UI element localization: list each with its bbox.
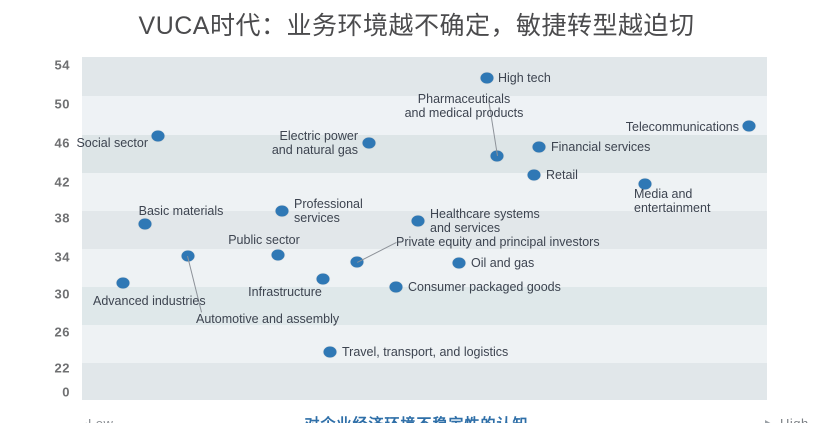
- data-point-label: Infrastructure: [248, 285, 322, 299]
- data-point-label: Oil and gas: [471, 256, 534, 270]
- y-tick: 34: [55, 250, 70, 265]
- data-point[interactable]: [324, 347, 337, 358]
- bottom-spacer: [0, 423, 833, 441]
- y-tick: 22: [55, 361, 70, 376]
- y-tick: 30: [55, 287, 70, 302]
- slide-canvas: VUCA时代：业务环境越不确定，敏捷转型越迫切 54 50 46 42 38 3…: [0, 0, 833, 441]
- data-point-label: Public sector: [228, 233, 300, 247]
- data-point[interactable]: [272, 250, 285, 261]
- data-point-label: Consumer packaged goods: [408, 280, 561, 294]
- data-point-label: High tech: [498, 71, 551, 85]
- data-point[interactable]: [528, 170, 541, 181]
- page-title: VUCA时代：业务环境越不确定，敏捷转型越迫切: [0, 6, 833, 42]
- data-point-label: Media and entertainment: [634, 187, 710, 215]
- band: [82, 135, 767, 173]
- data-point-label: Advanced industries: [93, 294, 206, 308]
- data-point[interactable]: [317, 274, 330, 285]
- y-tick: 50: [55, 97, 70, 112]
- data-point-label: Healthcare systems and services: [430, 207, 540, 235]
- data-point[interactable]: [363, 138, 376, 149]
- y-tick: 0: [62, 385, 70, 400]
- data-point-label: Automotive and assembly: [196, 312, 339, 326]
- data-point[interactable]: [390, 282, 403, 293]
- y-tick: 26: [55, 325, 70, 340]
- data-point[interactable]: [117, 278, 130, 289]
- data-point[interactable]: [453, 258, 466, 269]
- data-point[interactable]: [276, 206, 289, 217]
- y-tick: 46: [55, 136, 70, 151]
- data-point-label: Basic materials: [139, 204, 224, 218]
- y-axis: 54 50 46 42 38 34 30 26 22 0: [0, 50, 82, 400]
- scatter-chart: 54 50 46 42 38 34 30 26 22 0: [0, 50, 833, 441]
- band: [82, 57, 767, 96]
- data-point[interactable]: [412, 216, 425, 227]
- y-tick: 42: [55, 175, 70, 190]
- data-point-label: Retail: [546, 168, 578, 182]
- y-tick: 54: [55, 58, 70, 73]
- data-point[interactable]: [743, 121, 756, 132]
- data-point-label: Financial services: [551, 140, 650, 154]
- band: [82, 363, 767, 400]
- data-point[interactable]: [152, 131, 165, 142]
- data-point-label: Telecommunications: [626, 120, 739, 134]
- data-point-label: Electric power and natural gas: [272, 129, 358, 157]
- data-point[interactable]: [139, 219, 152, 230]
- data-point-label: Private equity and principal investors: [396, 235, 600, 249]
- data-point-label: Social sector: [76, 136, 148, 150]
- data-point[interactable]: [533, 142, 546, 153]
- data-point-label: Pharmaceuticals and medical products: [405, 92, 524, 120]
- data-point[interactable]: [481, 73, 494, 84]
- data-point-label: Travel, transport, and logistics: [342, 345, 508, 359]
- y-tick: 38: [55, 211, 70, 226]
- data-point-label: Professional services: [294, 197, 363, 225]
